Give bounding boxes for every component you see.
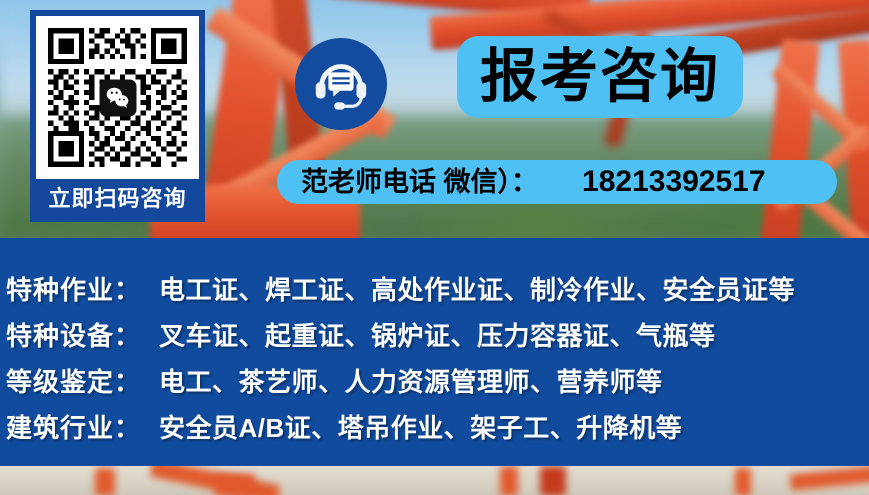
- consult-title-pill: 报考咨询: [457, 36, 743, 118]
- wechat-icon: [99, 79, 136, 116]
- service-category-label: 特种作业：: [6, 270, 141, 307]
- crane-girder: [540, 466, 566, 495]
- service-category-label: 特种设备：: [6, 316, 141, 353]
- service-items: 电工证、焊工证、高处作业证、制冷作业、安全员证等: [159, 270, 795, 307]
- crane-girder: [789, 466, 869, 491]
- qr-caption: 立即扫码咨询: [48, 188, 186, 210]
- crane-girder: [95, 468, 115, 495]
- service-row: 建筑行业： 安全员A/B证、塔吊作业、架子工、升降机等: [6, 408, 682, 445]
- crane-girder: [735, 468, 751, 495]
- service-row: 等级鉴定： 电工、茶艺师、人力资源管理师、营养师等: [6, 362, 663, 399]
- service-category-label: 等级鉴定：: [6, 362, 141, 399]
- bottom-photo-strip: [0, 466, 869, 495]
- qr-frame: [36, 16, 199, 179]
- headset-chat-icon: [295, 38, 387, 130]
- qr-code-icon[interactable]: [43, 23, 192, 172]
- contact-phone-number[interactable]: 18213392517: [582, 167, 766, 197]
- contact-phone-pill[interactable]: 范老师电话 微信）： 18213392517: [277, 160, 837, 204]
- service-items: 安全员A/B证、塔吊作业、架子工、升降机等: [159, 408, 682, 445]
- service-items: 叉车证、起重证、锅炉证、压力容器证、气瓶等: [159, 316, 716, 353]
- qr-card[interactable]: 立即扫码咨询: [30, 10, 205, 222]
- consult-title-text: 报考咨询: [480, 48, 720, 106]
- services-panel: 特种作业： 电工证、焊工证、高处作业证、制冷作业、安全员证等 特种设备： 叉车证…: [0, 238, 869, 466]
- service-row: 特种设备： 叉车证、起重证、锅炉证、压力容器证、气瓶等: [6, 316, 716, 353]
- service-items: 电工、茶艺师、人力资源管理师、营养师等: [159, 362, 663, 399]
- promo-poster: 立即扫码咨询 报考咨询 范老师电话 微信）： 18213392517 特: [0, 0, 869, 495]
- service-row: 特种作业： 电工证、焊工证、高处作业证、制冷作业、安全员证等: [6, 270, 795, 307]
- crane-girder: [215, 474, 255, 495]
- service-category-label: 建筑行业：: [6, 408, 141, 445]
- contact-label: 范老师电话 微信）：: [301, 169, 538, 196]
- crane-girder: [500, 466, 518, 495]
